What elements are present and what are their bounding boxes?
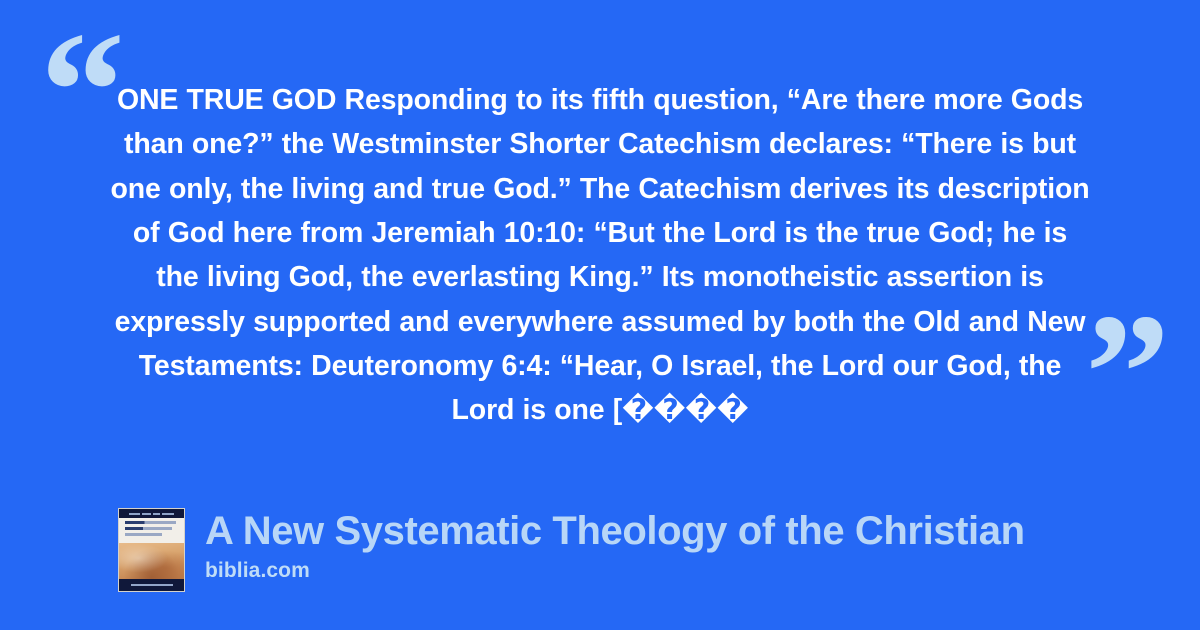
- book-cover-top-band-mark: [162, 513, 174, 515]
- book-cover-top-band: [119, 509, 184, 518]
- book-cover-top-band-mark: [142, 513, 151, 515]
- footer-text-group: A New Systematic Theology of the Christi…: [205, 508, 1025, 583]
- book-cover-author-mark: [131, 584, 173, 586]
- quote-text-main: ONE TRUE GOD Responding to its fifth que…: [110, 84, 1089, 426]
- book-title: A New Systematic Theology of the Christi…: [205, 510, 1025, 552]
- unrendered-glyphs: ����: [622, 393, 748, 426]
- close-quote-icon: ”: [1085, 288, 1170, 458]
- book-cover-title-line: [125, 533, 162, 536]
- book-cover-title-lines: [125, 521, 178, 539]
- source-url[interactable]: biblia.com: [205, 559, 1025, 583]
- quote-text: ONE TRUE GOD Responding to its fifth que…: [110, 78, 1090, 433]
- book-cover-top-band-mark: [129, 513, 140, 515]
- book-cover-top-band-mark: [153, 513, 160, 515]
- book-cover-artwork: [119, 543, 184, 581]
- footer: A New Systematic Theology of the Christi…: [118, 508, 1025, 592]
- book-cover-bottom-band: [119, 579, 184, 591]
- quote-card: “ ONE TRUE GOD Responding to its fifth q…: [0, 0, 1200, 630]
- book-cover-title-line: [125, 527, 172, 530]
- book-cover-thumbnail: [118, 508, 185, 592]
- book-cover-title-line: [125, 521, 176, 524]
